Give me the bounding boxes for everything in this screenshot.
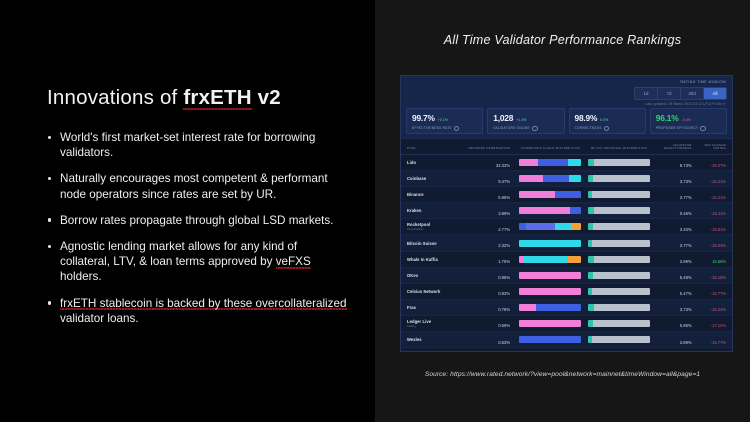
blockprop-bar (588, 272, 650, 279)
cell-penetration: 0.69% (498, 323, 510, 328)
time-window-option-1d[interactable]: 1d (635, 88, 658, 99)
stat-delta: +0.1% (438, 118, 448, 122)
pool-name: Binance (407, 192, 468, 197)
pool-subtitle: Staking (407, 325, 468, 328)
blockprop-bar (588, 223, 650, 230)
bullet-text-b: holders. (60, 270, 102, 283)
time-window-toggle[interactable]: 1d7d30dAll (634, 87, 727, 100)
page-title: Innovations of frxETH v2 (47, 86, 281, 110)
cell-pool: Lido (407, 160, 468, 165)
bullet-text: World's first market-set interest rate f… (60, 131, 315, 159)
source-caption: Source: https://www.rated.network/?view=… (375, 371, 750, 378)
column-header-consensus: Consensus Client Distribution (516, 147, 585, 154)
left-panel: Innovations of frxETH v2 World's first m… (0, 0, 375, 422)
list-item: Naturally encourages most competent & pe… (47, 171, 347, 201)
consensus-bar (519, 336, 581, 343)
stat-delta: +1.3% (516, 118, 526, 122)
time-window-option-7d[interactable]: 7d (658, 88, 681, 99)
info-icon[interactable] (454, 126, 460, 132)
stat-card-2: 98.9%0.0%Correctness (569, 108, 646, 134)
cell-penetration: 0.78% (498, 307, 510, 312)
cell-penetration: 1.75% (498, 259, 510, 264)
info-icon[interactable] (700, 126, 706, 132)
cell-change: -16.07% (711, 163, 726, 168)
pool-name: Wexles (407, 337, 468, 342)
info-icon[interactable] (532, 126, 538, 132)
blockprop-bar (588, 288, 650, 295)
blockprop-bar (588, 175, 650, 182)
stat-label: Validators Online (493, 126, 558, 132)
stat-value: 99.7% (412, 113, 435, 123)
cell-change: -15.51% (711, 227, 726, 232)
stat-delta: -0.4% (682, 118, 691, 122)
cell-effectiveness: 3.73% (680, 179, 692, 184)
cell-pool: Celsius Network (407, 289, 468, 294)
stat-label: Effectiveness Rate (412, 126, 477, 132)
pool-name: Lido (407, 160, 468, 165)
stat-label-text: Effectiveness Rate (412, 126, 452, 130)
bullet-text-a: Agnostic lending market allows for any k… (60, 240, 297, 268)
pool-name: Bitcoin Suisse (407, 241, 468, 246)
stat-label-text: Validators Online (493, 126, 530, 130)
cell-effectiveness: 3.77% (680, 195, 692, 200)
stat-card-1: 1,028+1.3%Validators Online (487, 108, 564, 134)
cell-change: -16.77% (711, 340, 726, 345)
consensus-bar (519, 223, 581, 230)
list-item: World's first market-set interest rate f… (47, 130, 347, 160)
bullet-term-overcollateralized: overcollateralized (256, 297, 347, 311)
list-item: frxETH stablecoin is backed by these ove… (47, 296, 347, 326)
cell-penetration: 0.95% (498, 275, 510, 280)
cell-pool: Wexles (407, 337, 468, 342)
stat-cards: 99.7%+0.1%Effectiveness Rate1,028+1.3%Va… (406, 108, 727, 134)
title-strong: frxETH (183, 86, 251, 110)
consensus-bar (519, 240, 581, 247)
cell-effectiveness: 3.40% (680, 227, 692, 232)
bullet-text: Naturally encourages most competent & pe… (60, 172, 328, 200)
table-row[interactable]: Bitfinex0.57%3.43%-16.70% (401, 348, 732, 352)
stat-label-text: Proposer Efficiency (656, 126, 699, 130)
time-window-option-All[interactable]: All (704, 88, 726, 99)
chart-title: All Time Validator Performance Rankings (375, 33, 750, 47)
time-window-option-30d[interactable]: 30d (681, 88, 704, 99)
cell-effectiveness: 8.73% (680, 163, 692, 168)
consensus-bar (519, 272, 581, 279)
cell-change: -16.16% (711, 275, 726, 280)
blockprop-bar (588, 256, 650, 263)
pool-name: Kraken (407, 208, 468, 213)
cell-penetration: 2.32% (498, 243, 510, 248)
cell-effectiveness: 3.77% (680, 243, 692, 248)
slide: Innovations of frxETH v2 World's first m… (0, 0, 750, 422)
pool-name: Coinbase (407, 176, 468, 181)
column-header-pool: Pool (407, 147, 468, 154)
cell-effectiveness: 3.89% (680, 340, 692, 345)
dashboard-header: Rating Time Window 1d7d30dAll Last updat… (401, 76, 732, 139)
stat-label: Correctness (575, 126, 640, 132)
consensus-bar (519, 320, 581, 327)
blockprop-bar (588, 304, 650, 311)
cell-change: -16.77% (711, 291, 726, 296)
cell-effectiveness: 3.73% (680, 307, 692, 312)
cell-pool: Whale In Kaffia (407, 257, 468, 262)
pool-subtitle: Decentralized (407, 228, 468, 231)
title-tail: v2 (252, 86, 281, 109)
cell-effectiveness: 0.46% (680, 211, 692, 216)
cell-penetration: 32.33% (496, 163, 510, 168)
cell-penetration: 2.77% (498, 227, 510, 232)
table-body: Lido32.33%8.73%-16.07%Coinbase9.47%3.73%… (401, 155, 732, 352)
consensus-bar (519, 207, 581, 214)
consensus-bar (519, 191, 581, 198)
cell-penetration: 5.95% (498, 195, 510, 200)
cell-effectiveness: 5.47% (680, 291, 692, 296)
cell-penetration: 9.47% (498, 179, 510, 184)
cell-pool: Frax (407, 305, 468, 310)
column-header-effectiveness: Validator Effectiveness (653, 144, 691, 154)
time-window-note: Last updated: 29 March 2023 03:12 UTC(+0… (645, 102, 726, 106)
bullet-text-tail: validator loans. (60, 312, 139, 325)
stat-card-0: 99.7%+0.1%Effectiveness Rate (406, 108, 483, 134)
blockprop-bar (588, 191, 650, 198)
stat-label: Proposer Efficiency (656, 126, 721, 132)
stat-value: 1,028 (493, 113, 513, 123)
cell-change: -16.41% (711, 195, 726, 200)
pool-name: Rocketpool (407, 222, 468, 227)
consensus-bar (519, 288, 581, 295)
pool-name: Ledger Live (407, 319, 468, 324)
validator-dashboard: Rating Time Window 1d7d30dAll Last updat… (400, 75, 733, 352)
cell-pool: OKex (407, 273, 468, 278)
cell-penetration: 0.63% (498, 340, 510, 345)
consensus-bar (519, 159, 581, 166)
cell-effectiveness: 5.49% (680, 275, 692, 280)
cell-change: -15.63% (711, 243, 726, 248)
blockprop-bar (588, 207, 650, 214)
bullet-term-frxeth: frxETH (60, 297, 96, 311)
bullet-text: Borrow rates propagate through global LS… (60, 214, 334, 227)
cell-change: -15.11% (711, 211, 726, 216)
column-header-blockprop: Block Proposal Distribution (585, 147, 654, 154)
stat-value: 98.9% (575, 113, 598, 123)
bullet-list: World's first market-set interest rate f… (47, 130, 347, 337)
time-window-label: Rating Time Window (681, 80, 726, 84)
stat-card-3: 96.1%-0.4%Proposer Efficiency (650, 108, 727, 134)
cell-effectiveness: 5.86% (680, 323, 692, 328)
pool-name: Whale In Kaffia (407, 257, 468, 262)
consensus-bar (519, 304, 581, 311)
blockprop-bar (588, 336, 650, 343)
cell-pool: Kraken (407, 208, 468, 213)
cell-change: -16.41% (711, 179, 726, 184)
cell-effectiveness: 3.89% (680, 259, 692, 264)
pool-name: OKex (407, 273, 468, 278)
cell-pool: Binance (407, 192, 468, 197)
consensus-bar (519, 256, 581, 263)
cell-pool: Coinbase (407, 176, 468, 181)
stat-label-text: Correctness (575, 126, 602, 130)
cell-change: -16.24% (711, 307, 726, 312)
cell-pool: Ledger LiveStaking (407, 319, 468, 328)
blockprop-bar (588, 159, 650, 166)
cell-pool: RocketpoolDecentralized (407, 222, 468, 231)
pool-name: Celsius Network (407, 289, 468, 294)
cell-change: -17.12% (711, 323, 726, 328)
stat-value: 96.1% (656, 113, 679, 123)
bullet-term-stablecoin: stablecoin is backed by these (96, 297, 255, 311)
list-item: Agnostic lending market allows for any k… (47, 239, 347, 285)
blockprop-bar (588, 240, 650, 247)
cell-pool: Bitcoin Suisse (407, 241, 468, 246)
column-header-change: 30d Change Rating (692, 144, 726, 154)
pool-name: Frax (407, 305, 468, 310)
right-panel: All Time Validator Performance Rankings … (375, 0, 750, 422)
cell-penetration: 3.89% (498, 211, 510, 216)
title-plain: Innovations of (47, 86, 183, 109)
info-icon[interactable] (604, 126, 610, 132)
blockprop-bar (588, 320, 650, 327)
cell-penetration: 0.83% (498, 291, 510, 296)
consensus-bar (519, 175, 581, 182)
stat-delta: 0.0% (600, 118, 608, 122)
list-item: Borrow rates propagate through global LS… (47, 213, 347, 228)
bullet-term-vefxs: veFXS (276, 255, 311, 269)
cell-change: 16.56% (712, 259, 726, 264)
